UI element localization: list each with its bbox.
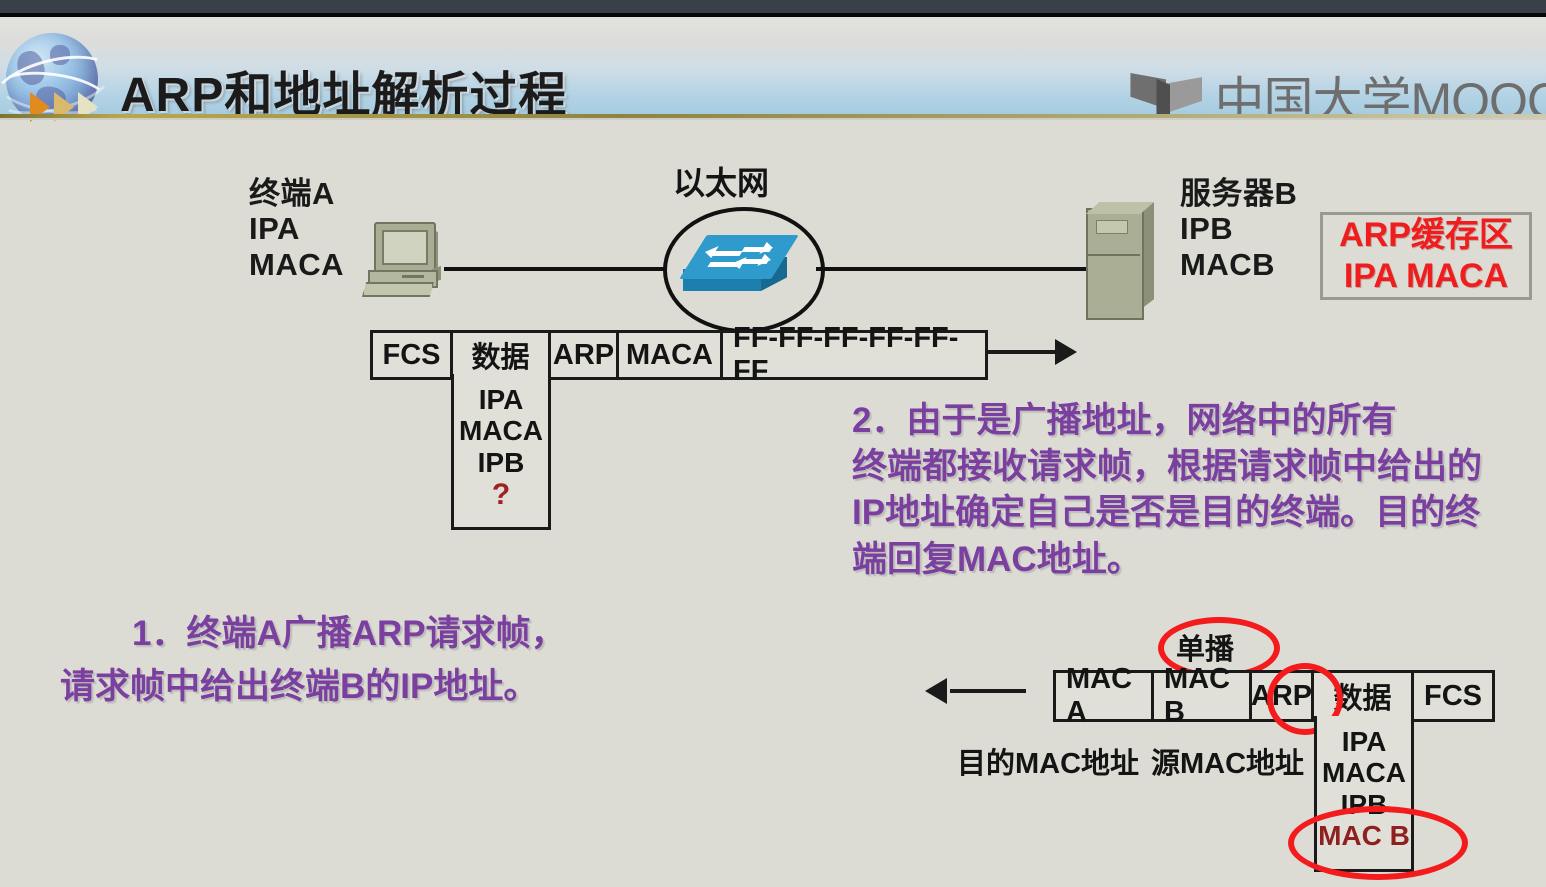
page-title: ARP和地址解析过程 [120, 55, 567, 118]
request-frame-table: FCS 数据 ARP MACA FF-FF-FF-FF-FF-FF [370, 330, 988, 380]
arp-cache-title: ARP缓存区 [1339, 215, 1513, 256]
arp-cache-entry: IPA MACA [1344, 256, 1508, 297]
request-cell-arp: ARP [551, 333, 619, 377]
request-cell-data: 数据 [453, 333, 551, 377]
reply-cell-fcs: FCS [1414, 673, 1492, 719]
note-step-2: 2．由于是广播地址，网络中的所有 终端都接收请求帧，根据请求帧中给出的 IP地址… [852, 398, 1542, 583]
link-wire-right [816, 267, 1088, 271]
request-detail-ipb: IPB [478, 447, 525, 478]
request-detail-ipa: IPA [479, 384, 524, 415]
note-step-2-line-3: IP地址确定自己是否是目的终端。目的终 [852, 490, 1542, 536]
switch-icon [683, 235, 799, 297]
note-step-2-line-4: 端回复MAC地址。 [852, 537, 1542, 583]
slide-canvas: ARP和地址解析过程 中国大学MOOC 终端A IPA MACA 以太网 [0, 0, 1546, 887]
request-direction-line [987, 350, 1059, 354]
server-b-name: 服务器B [1180, 176, 1297, 211]
request-cell-maca: MACA [619, 333, 723, 377]
request-cell-broadcast: FF-FF-FF-FF-FF-FF [723, 333, 985, 377]
note-step-2-line-2: 终端都接收请求帧，根据请求帧中给出的 [852, 444, 1542, 490]
mooc-book-icon [1130, 73, 1204, 118]
note-step-1: 1．终端A广播ARP请求帧， 请求帧中给出终端B的IP地址。 [60, 608, 760, 713]
arrow-left-icon [925, 678, 947, 704]
link-wire-left [444, 267, 664, 271]
reply-caption-source: 源MAC地址 [1151, 740, 1304, 782]
request-detail-unknown: ? [492, 478, 510, 512]
mac-b-answer-ring [1288, 806, 1468, 880]
arrow-right-icon [1055, 339, 1077, 365]
slide-header: ARP和地址解析过程 中国大学MOOC [0, 17, 1546, 118]
desktop-computer-icon [360, 220, 446, 296]
arp-cache-box: ARP缓存区 IPA MACA [1320, 212, 1532, 300]
note-step-1-line-2: 请求帧中给出终端B的IP地址。 [60, 661, 760, 714]
reply-caption-destination: 目的MAC地址 [957, 740, 1139, 782]
window-title-bar [0, 0, 1546, 13]
request-cell-fcs: FCS [373, 333, 453, 377]
ethernet-label: 以太网 [673, 158, 769, 204]
server-tower-icon [1086, 202, 1158, 318]
terminal-a-mac: MACA [249, 247, 344, 282]
mooc-brand-logo: 中国大学MOOC [1130, 61, 1546, 118]
reply-direction-line [950, 689, 1026, 693]
terminal-a-ip: IPA [249, 211, 344, 246]
header-gold-rule-2 [0, 118, 1546, 120]
terminal-a-labels: 终端A IPA MACA [249, 176, 344, 282]
reply-cell-mac-b: MAC B [1154, 673, 1252, 719]
reply-cell-mac-a: MAC A [1056, 673, 1154, 719]
server-b-ip: IPB [1180, 211, 1297, 246]
brand-label: 中国大学MOOC [1214, 61, 1546, 118]
terminal-a-name: 终端A [249, 176, 344, 211]
server-b-labels: 服务器B IPB MACB [1180, 176, 1297, 282]
request-detail-maca: MACA [459, 415, 543, 446]
reply-detail-ipa: IPA [1342, 726, 1387, 757]
server-b-mac: MACB [1180, 247, 1297, 282]
note-step-2-line-1: 2．由于是广播地址，网络中的所有 [852, 398, 1542, 444]
note-step-1-line-1: 1．终端A广播ARP请求帧， [60, 608, 760, 661]
request-data-detail-box: IPA MACA IPB ? [451, 374, 551, 530]
reply-detail-maca: MACA [1322, 757, 1406, 788]
